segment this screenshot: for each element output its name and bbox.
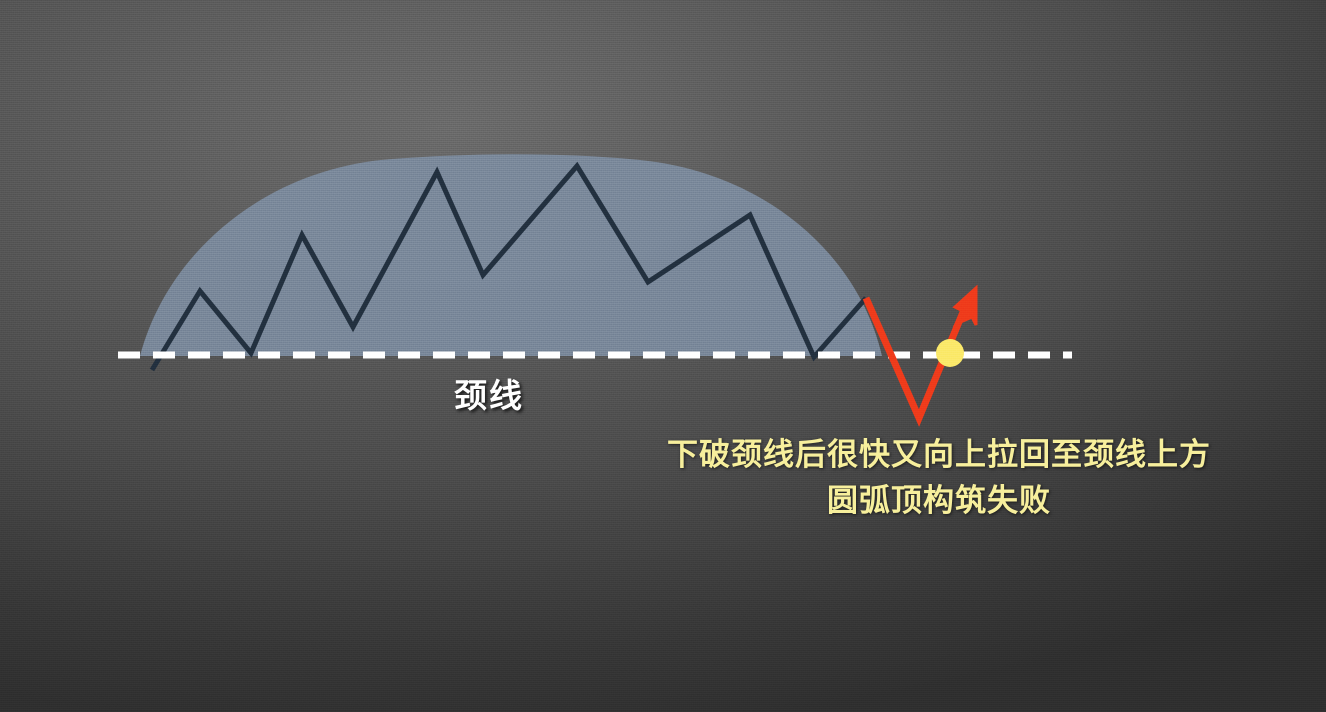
breakout-arrow-head-icon — [955, 288, 976, 325]
chart-canvas: 颈线 下破颈线后很快又向上拉回至颈线上方 圆弧顶构筑失败 — [0, 0, 1326, 712]
neckline-retest-marker-dot — [936, 339, 964, 367]
rounding-top-chart — [0, 0, 1326, 712]
